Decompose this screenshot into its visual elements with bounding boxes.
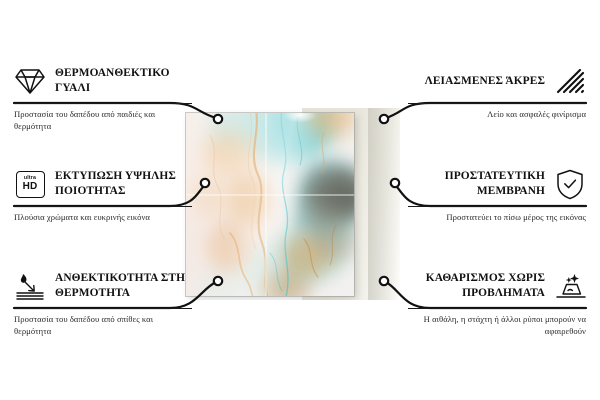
feature-divider [408, 308, 586, 309]
feature-heat-resistant-glass: ΘΕΡΜΟΑΝΘΕΚΤΙΚΟ ΓΥΑΛΙ Προστασία του δαπέδ… [14, 62, 192, 133]
product-image [182, 108, 400, 300]
feature-description: Η αιθάλη, η στάχτη ή άλλοι ρύποι μπορούν… [408, 314, 586, 338]
feature-title: ΚΑΘΑΡΙΣΜΟΣ ΧΩΡΙΣ ΠΡΟΒΛΗΜΑΤΑ [408, 271, 545, 301]
feature-divider [14, 103, 192, 104]
printed-glass-panel [186, 113, 354, 296]
feature-description: Προστατεύει το πίσω μέρος της εικόνας [408, 212, 586, 224]
glass-reflection-horizontal [186, 194, 354, 196]
shield-check-icon [554, 168, 586, 200]
glass-reflection-vertical [265, 113, 267, 296]
feature-title: ΕΚΤΥΠΩΣΗ ΥΨΗΛΗΣ ΠΟΙΟΤΗΤΑΣ [55, 169, 192, 199]
infographic-canvas: ΘΕΡΜΟΑΝΘΕΚΤΙΚΟ ΓΥΑΛΙ Προστασία του δαπέδ… [0, 0, 600, 400]
diamond-icon [14, 65, 46, 97]
feature-divider [408, 206, 586, 207]
feature-header: ΚΑΘΑΡΙΣΜΟΣ ΧΩΡΙΣ ΠΡΟΒΛΗΜΑΤΑ [408, 267, 586, 305]
feature-polished-edges: ΛΕΙΑΣΜΕΝΕΣ ΆΚΡΕΣ Λείο και ασφαλές φινίρι… [408, 62, 586, 121]
ink-veins [186, 113, 354, 296]
feature-easy-cleaning: ΚΑΘΑΡΙΣΜΟΣ ΧΩΡΙΣ ΠΡΟΒΛΗΜΑΤΑ Η αιθάλη, η … [408, 267, 586, 338]
feature-divider [14, 308, 192, 309]
feature-description: Προστασία του δαπέδου από παιδιές και θε… [14, 109, 192, 133]
polished-edge-icon [554, 65, 586, 97]
feature-header: ΑΝΘΕΚΤΙΚΟΤΗΤΑ ΣΤΗ ΘΕΡΜΟΤΗΤΑ [14, 267, 192, 305]
flame-deflect-icon [14, 270, 46, 302]
feature-description: Προστασία του δαπέδου από σπίθες και θερ… [14, 314, 192, 338]
feature-title: ΘΕΡΜΟΑΝΘΕΚΤΙΚΟ ΓΥΑΛΙ [55, 66, 192, 96]
feature-title: ΠΡΟΣΤΑΤΕΥΤΙΚΗ ΜΕΜΒΡΑΝΗ [408, 169, 545, 199]
ultra-hd-icon: ultra HD [14, 168, 46, 200]
panel-shadow [368, 108, 400, 300]
feature-high-quality-print: ultra HD ΕΚΤΥΠΩΣΗ ΥΨΗΛΗΣ ΠΟΙΟΤΗΤΑΣ Πλούσ… [14, 165, 192, 224]
feature-divider [408, 103, 586, 104]
feature-description: Πλούσια χρώματα και ευκρινής εικόνα [14, 212, 192, 224]
feature-description: Λείο και ασφαλές φινίρισμα [408, 109, 586, 121]
feature-header: ΛΕΙΑΣΜΕΝΕΣ ΆΚΡΕΣ [408, 62, 586, 100]
feature-header: ΘΕΡΜΟΑΝΘΕΚΤΙΚΟ ΓΥΑΛΙ [14, 62, 192, 100]
glass-highlight [283, 113, 317, 123]
feature-title: ΑΝΘΕΚΤΙΚΟΤΗΤΑ ΣΤΗ ΘΕΡΜΟΤΗΤΑ [55, 271, 192, 301]
feature-title: ΛΕΙΑΣΜΕΝΕΣ ΆΚΡΕΣ [408, 74, 545, 89]
feature-heat-durability: ΑΝΘΕΚΤΙΚΟΤΗΤΑ ΣΤΗ ΘΕΡΜΟΤΗΤΑ Προστασία το… [14, 267, 192, 338]
ultra-hd-icon-label-big: HD [23, 182, 38, 192]
feature-divider [14, 206, 192, 207]
feature-header: ΠΡΟΣΤΑΤΕΥΤΙΚΗ ΜΕΜΒΡΑΝΗ [408, 165, 586, 203]
feature-protective-membrane: ΠΡΟΣΤΑΤΕΥΤΙΚΗ ΜΕΜΒΡΑΝΗ Προστατεύει το πί… [408, 165, 586, 224]
feature-header: ultra HD ΕΚΤΥΠΩΣΗ ΥΨΗΛΗΣ ΠΟΙΟΤΗΤΑΣ [14, 165, 192, 203]
sponge-sparkle-icon [554, 270, 586, 302]
